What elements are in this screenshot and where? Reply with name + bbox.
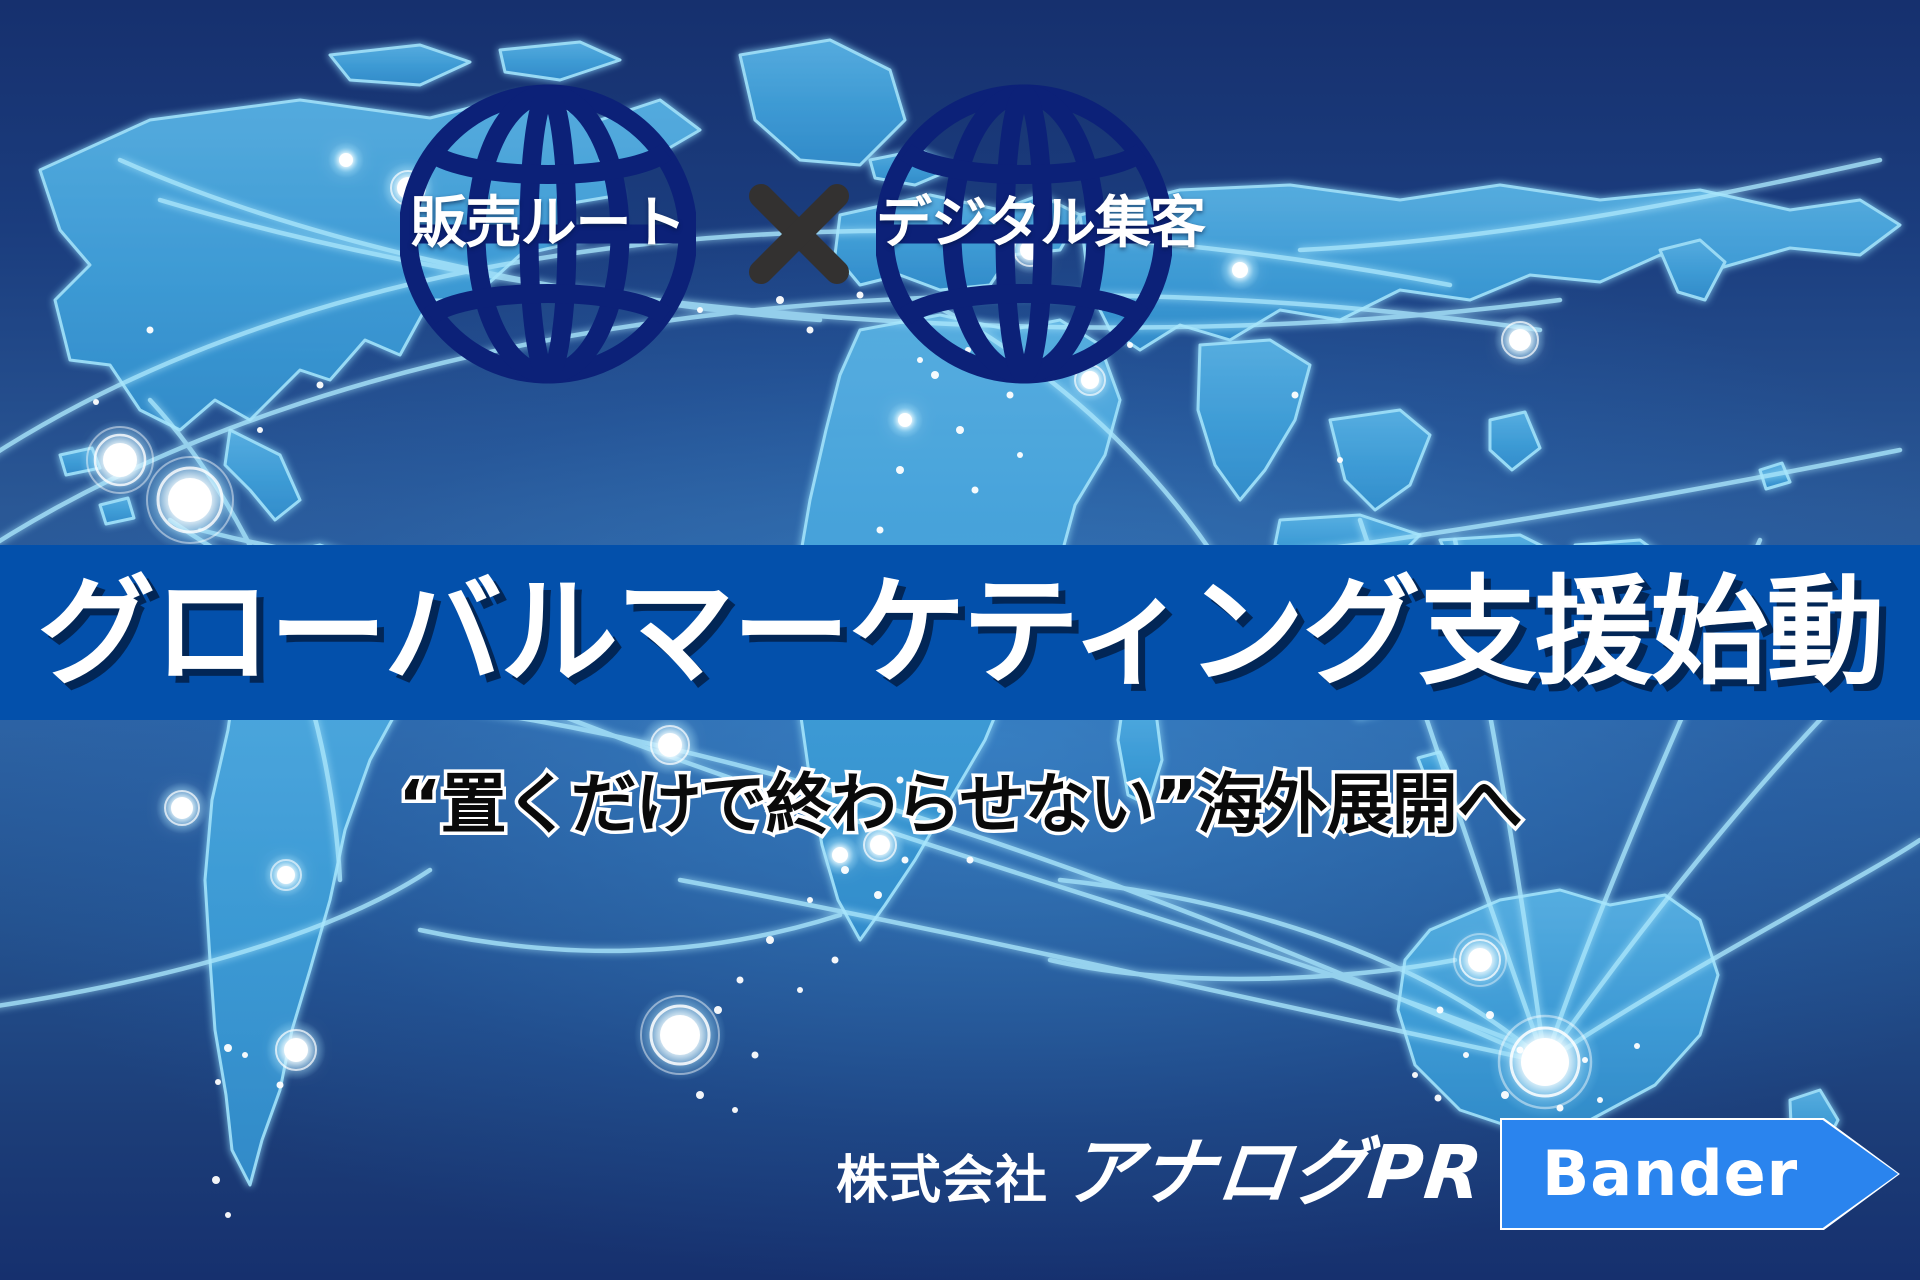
left-globe-label: 販売ルート xyxy=(400,196,696,252)
badge-label: Bander xyxy=(1542,1143,1798,1205)
right-globe-label: デジタル集客 xyxy=(876,196,1172,252)
page-title: グローバルマーケティング支援始動 xyxy=(0,573,1920,691)
left-globe-badge: 販売ルート xyxy=(400,78,696,390)
poster-canvas: 販売ルート デジタル集客 グローバルマーケティング支援始動 “置くだけで終わ xyxy=(0,0,1920,1280)
company-name: アナログPR xyxy=(1062,1136,1488,1210)
right-globe-badge: デジタル集客 xyxy=(876,78,1172,390)
x-cross-icon xyxy=(745,180,853,306)
company-logo: 株式会社 アナログPR xyxy=(836,1136,1484,1210)
bander-badge[interactable]: Bander xyxy=(1500,1118,1900,1230)
subtitle: “置くだけで終わらせない”海外展開へ xyxy=(0,772,1920,838)
company-prefix: 株式会社 xyxy=(836,1155,1048,1207)
